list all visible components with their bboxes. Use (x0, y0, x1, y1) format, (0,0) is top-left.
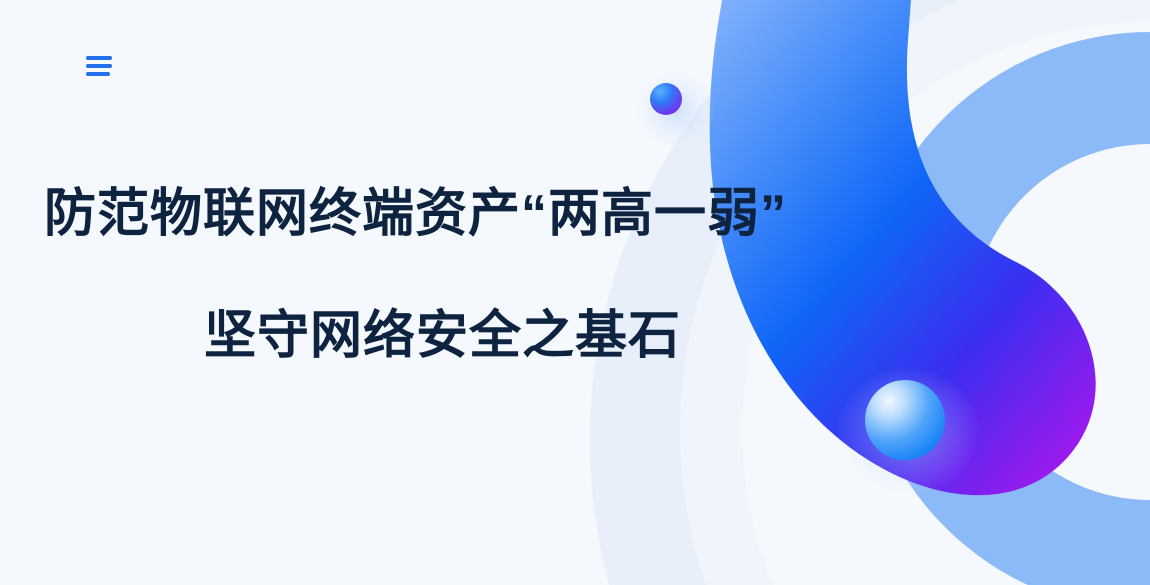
pale-arc-inner (680, 0, 1150, 585)
title-block: 防范物联网终端资产“两高一弱” 坚守网络安全之基石 (0, 186, 1150, 364)
slide-canvas: 防范物联网终端资产“两高一弱” 坚守网络安全之基石 (0, 0, 1150, 585)
hamburger-menu-icon-bar-3 (86, 72, 110, 76)
small-gradient-ball (650, 83, 682, 115)
hamburger-menu-button[interactable] (80, 48, 116, 84)
title-line-2: 坚守网络安全之基石 (204, 308, 1150, 364)
title-line-1: 防范物联网终端资产“两高一弱” (44, 186, 1150, 242)
decorative-background (0, 0, 1150, 585)
large-blue-sphere (865, 380, 945, 460)
pale-arc-outer (590, 0, 1150, 585)
small-ball-glow (636, 70, 716, 150)
large-ball-glow (836, 366, 980, 498)
hamburger-menu-icon-bar-1 (86, 56, 112, 60)
light-blue-arc (860, 32, 1150, 585)
hamburger-menu-icon-bar-2 (86, 64, 112, 68)
gradient-swoosh (710, 0, 1096, 495)
